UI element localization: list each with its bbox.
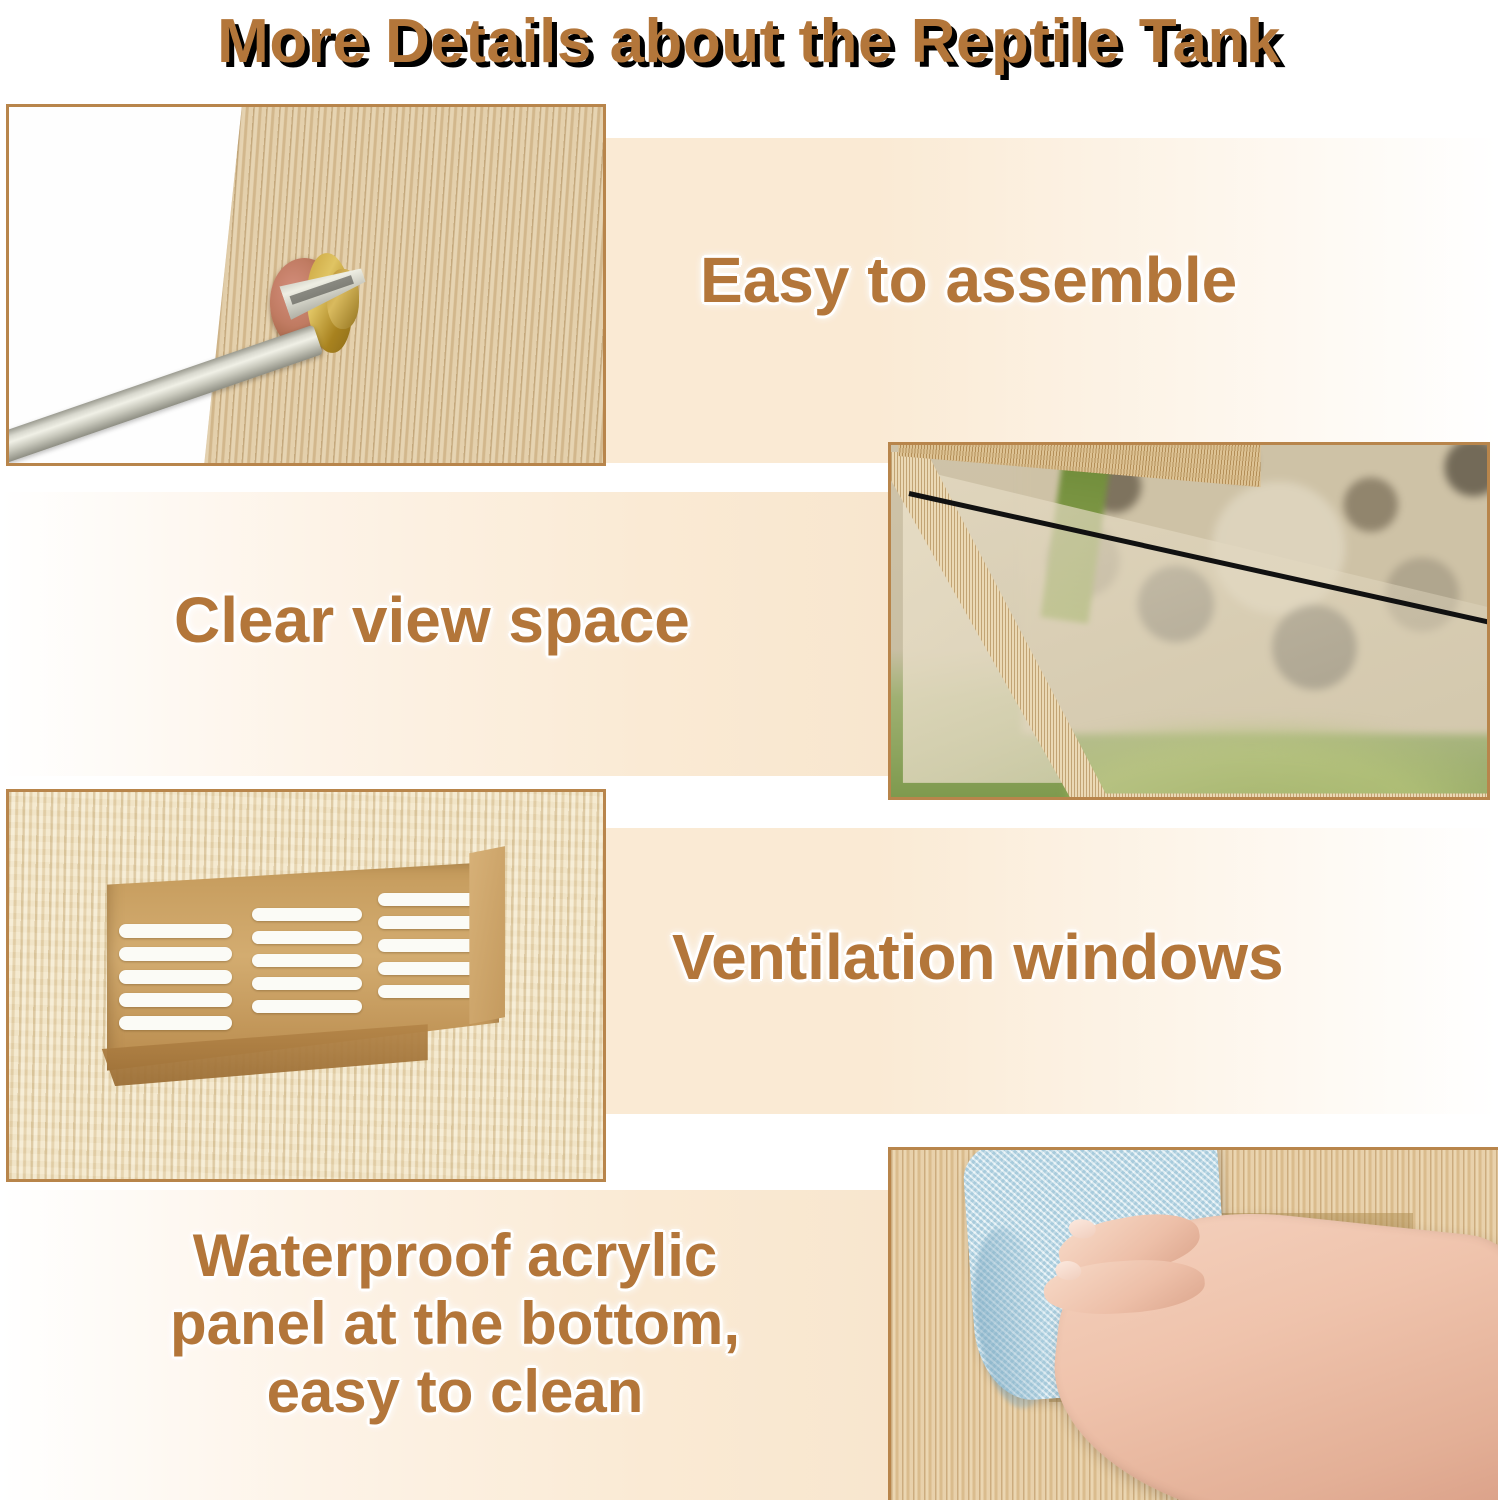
vent-slot bbox=[252, 1000, 362, 1013]
vent-slot bbox=[119, 947, 233, 960]
page-title: More Details about the Reptile Tank bbox=[0, 0, 1498, 88]
caption-clear-view-space: Clear view space bbox=[174, 583, 690, 657]
vent-right-jamb-shape bbox=[469, 846, 505, 1024]
vent-slot bbox=[252, 931, 362, 944]
caption-ventilation-windows: Ventilation windows bbox=[672, 920, 1284, 994]
vent-slot bbox=[119, 924, 233, 937]
photo-waterproof-acrylic-panel bbox=[888, 1147, 1498, 1500]
vent-slot bbox=[252, 977, 362, 990]
vent-slot bbox=[119, 1016, 233, 1029]
caption-easy-to-assemble: Easy to assemble bbox=[700, 243, 1237, 317]
caption-waterproof-acrylic-panel: Waterproof acrylic panel at the bottom, … bbox=[60, 1222, 850, 1425]
caption-line-2: panel at the bottom, bbox=[60, 1290, 850, 1358]
photo-easy-to-assemble bbox=[6, 104, 606, 466]
vent-slot bbox=[119, 993, 233, 1006]
vent-slot bbox=[252, 954, 362, 967]
vent-slot bbox=[119, 970, 233, 983]
infographic-page: More Details about the Reptile Tank Easy… bbox=[0, 0, 1498, 1500]
hand-shape bbox=[1040, 1193, 1498, 1500]
photo-clear-view-space bbox=[888, 442, 1490, 800]
photo-ventilation-windows bbox=[6, 789, 606, 1182]
wood-panel-shape bbox=[198, 104, 606, 466]
vent-slot-group-1 bbox=[119, 862, 233, 1071]
caption-line-1: Waterproof acrylic bbox=[60, 1222, 850, 1290]
caption-line-3: easy to clean bbox=[60, 1358, 850, 1426]
vent-slot bbox=[252, 908, 362, 921]
